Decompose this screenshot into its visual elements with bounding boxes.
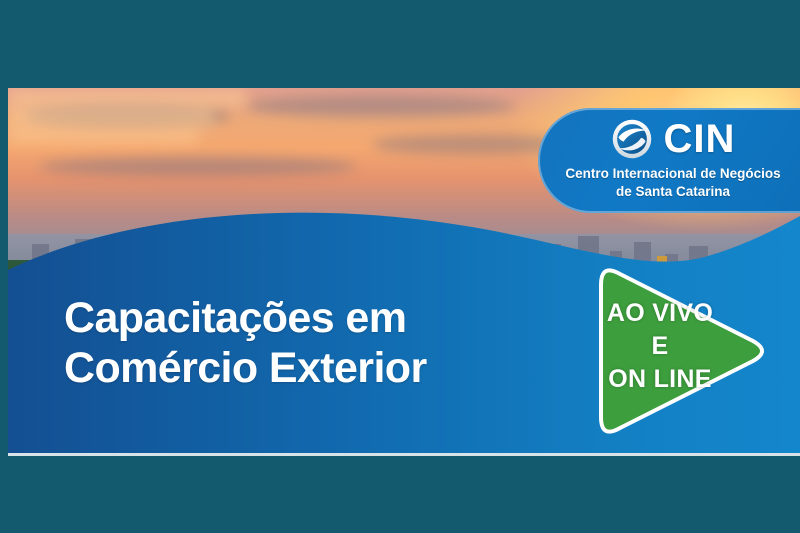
badge-line-1: AO VIVO xyxy=(589,297,731,330)
cin-logo-plate: CIN Centro Internacional de Negócios de … xyxy=(538,108,800,213)
cloud xyxy=(8,106,214,128)
title-line-2: Comércio Exterior xyxy=(64,343,534,393)
banner-bottom-rule xyxy=(8,453,800,456)
live-online-text: AO VIVO E ON LINE xyxy=(589,297,731,396)
cin-subtitle-line-2: de Santa Catarina xyxy=(538,183,800,201)
page-title: Capacitações em Comércio Exterior xyxy=(64,293,534,394)
badge-line-3: ON LINE xyxy=(589,363,731,396)
live-online-badge: AO VIVO E ON LINE xyxy=(575,255,771,447)
promo-banner-card: Capacitações em Comércio Exterior xyxy=(8,88,800,453)
cin-subtitle: Centro Internacional de Negócios de Sant… xyxy=(538,165,800,201)
cloud xyxy=(8,128,198,143)
title-line-1: Capacitações em xyxy=(64,293,534,343)
cin-logo-row: CIN xyxy=(538,118,800,160)
cin-globe-swoosh-icon xyxy=(611,118,653,160)
cloud xyxy=(40,157,357,175)
badge-line-2: E xyxy=(589,330,731,363)
cin-subtitle-line-1: Centro Internacional de Negócios xyxy=(538,165,800,183)
cloud xyxy=(8,88,246,106)
banner-root: Capacitações em Comércio Exterior xyxy=(0,0,800,533)
cin-wordmark: CIN xyxy=(664,119,736,159)
